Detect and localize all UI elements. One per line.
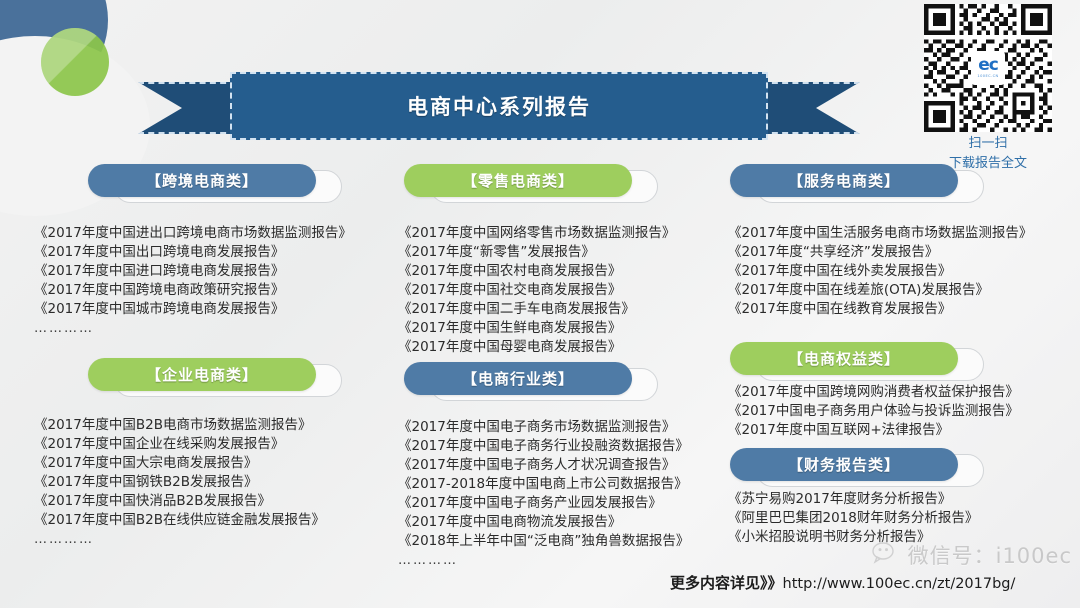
list-item[interactable]: 《2017年度中国跨境网购消费者权益保护报告》 [728, 383, 1058, 402]
qr-caption-scan: 扫一扫 [912, 135, 1064, 152]
section-header-rights[interactable]: 【电商权益类】 [730, 342, 958, 375]
pill-body[interactable]: 【零售电商类】 [404, 164, 632, 197]
qr-code-icon[interactable]: ec 100EC.CN [924, 4, 1052, 132]
list-item[interactable]: 《2017年度中国城市跨境电商发展报告》 [34, 300, 394, 319]
list-item[interactable]: 《2017年度中国大宗电商发展报告》 [34, 454, 394, 473]
section-header-cross-border[interactable]: 【跨境电商类】 [88, 164, 316, 197]
section-header-industry[interactable]: 【电商行业类】 [404, 362, 632, 395]
pill-body[interactable]: 【电商权益类】 [730, 342, 958, 375]
report-list-service: 《2017年度中国生活服务电商市场数据监测报告》 《2017年度“共享经济”发展… [728, 224, 1046, 319]
section-header-service[interactable]: 【服务电商类】 [730, 164, 958, 197]
section-label: 【财务报告类】 [788, 454, 900, 475]
list-item[interactable]: 《2017年度中国电子商务人才状况调查报告》 [398, 456, 748, 475]
list-item[interactable]: 《2017年度中国进口跨境电商发展报告》 [34, 262, 394, 281]
report-list-enterprise: 《2017年度中国B2B电商市场数据监测报告》 《2017年度中国企业在线采购发… [34, 416, 394, 549]
list-item[interactable]: 《2017年度中国钢铁B2B发展报告》 [34, 473, 394, 492]
pill-body[interactable]: 【企业电商类】 [88, 358, 316, 391]
section-header-enterprise[interactable]: 【企业电商类】 [88, 358, 316, 391]
section-label: 【电商行业类】 [462, 368, 574, 389]
list-item[interactable]: 《2017年度中国二手车电商发展报告》 [398, 300, 728, 319]
section-label: 【服务电商类】 [788, 170, 900, 191]
section-header-retail[interactable]: 【零售电商类】 [404, 164, 632, 197]
wechat-watermark: 微信号：i100ec [872, 540, 1072, 570]
list-ellipsis: ………… [398, 551, 748, 570]
list-item[interactable]: 《阿里巴巴集团2018财年财务分析报告》 [728, 509, 1058, 528]
report-list-rights: 《2017年度中国跨境网购消费者权益保护报告》 《2017中国电子商务用户体验与… [728, 383, 1058, 440]
section-label: 【零售电商类】 [462, 170, 574, 191]
list-item[interactable]: 《2017年度中国在线外卖发展报告》 [728, 262, 1046, 281]
list-ellipsis: ………… [34, 530, 394, 549]
wechat-bubble-icon [872, 541, 902, 569]
pill-body[interactable]: 【跨境电商类】 [88, 164, 316, 197]
list-item[interactable]: 《2017年度中国企业在线采购发展报告》 [34, 435, 394, 454]
list-item[interactable]: 《2017年度中国电子商务行业投融资数据报告》 [398, 437, 748, 456]
list-item[interactable]: 《2017年度中国进出口跨境电商市场数据监测报告》 [34, 224, 394, 243]
title-ribbon: 电商中心系列报告 [138, 72, 860, 142]
list-item[interactable]: 《2018年上半年中国“泛电商”独角兽数据报告》 [398, 532, 748, 551]
list-item[interactable]: 《2017年度中国B2B电商市场数据监测报告》 [34, 416, 394, 435]
section-label: 【跨境电商类】 [146, 170, 258, 191]
list-item[interactable]: 《2017年度中国农村电商发展报告》 [398, 262, 728, 281]
list-item[interactable]: 《苏宁易购2017年度财务分析报告》 [728, 490, 1058, 509]
list-item[interactable]: 《2017年度中国快消品B2B发展报告》 [34, 492, 394, 511]
list-item[interactable]: 《2017年度中国网络零售市场数据监测报告》 [398, 224, 728, 243]
pill-body[interactable]: 【财务报告类】 [730, 448, 958, 481]
list-item[interactable]: 《2017年度中国母婴电商发展报告》 [398, 338, 728, 357]
pill-body[interactable]: 【电商行业类】 [404, 362, 632, 395]
list-item[interactable]: 《2017年度“共享经济”发展报告》 [728, 243, 1046, 262]
section-label: 【企业电商类】 [146, 364, 258, 385]
list-item[interactable]: 《2017年度中国社交电商发展报告》 [398, 281, 728, 300]
list-item[interactable]: 《2017年度中国生活服务电商市场数据监测报告》 [728, 224, 1046, 243]
ec-logo-subtext: 100EC.CN [977, 75, 998, 79]
report-list-cross-border: 《2017年度中国进出口跨境电商市场数据监测报告》 《2017年度中国出口跨境电… [34, 224, 394, 338]
qr-block: ec 100EC.CN 扫一扫 下载报告全文 [912, 4, 1064, 172]
decorative-green-highlight [41, 28, 109, 96]
list-item[interactable]: 《2017年度中国电商物流发展报告》 [398, 513, 748, 532]
list-item[interactable]: 《2017年度中国电子商务市场数据监测报告》 [398, 418, 748, 437]
list-item[interactable]: 《2017年度中国生鲜电商发展报告》 [398, 319, 728, 338]
list-item[interactable]: 《2017年度中国跨境电商政策研究报告》 [34, 281, 394, 300]
list-item[interactable]: 《2017年度“新零售”发展报告》 [398, 243, 728, 262]
ribbon-body: 电商中心系列报告 [230, 72, 768, 140]
report-list-financial: 《苏宁易购2017年度财务分析报告》 《阿里巴巴集团2018财年财务分析报告》 … [728, 490, 1058, 547]
section-header-financial[interactable]: 【财务报告类】 [730, 448, 958, 481]
list-item[interactable]: 《2017中国电子商务用户体验与投诉监测报告》 [728, 402, 1058, 421]
report-list-industry: 《2017年度中国电子商务市场数据监测报告》 《2017年度中国电子商务行业投融… [398, 418, 748, 570]
report-list-retail: 《2017年度中国网络零售市场数据监测报告》 《2017年度“新零售”发展报告》… [398, 224, 728, 357]
page-title: 电商中心系列报告 [407, 91, 591, 121]
section-label: 【电商权益类】 [788, 348, 900, 369]
slide-root: { "banner": { "title": "电商中心系列报告" }, "qr… [0, 0, 1080, 608]
list-ellipsis: ………… [34, 319, 394, 338]
list-item[interactable]: 《2017-2018年度中国电商上市公司数据报告》 [398, 475, 748, 494]
list-item[interactable]: 《2017年度中国在线教育发展报告》 [728, 300, 1046, 319]
list-item[interactable]: 《2017年度中国B2B在线供应链金融发展报告》 [34, 511, 394, 530]
footer-prefix: 更多内容详见》》 [670, 574, 783, 592]
ec-logo: ec 100EC.CN [971, 51, 1005, 85]
list-item[interactable]: 《2017年度中国在线差旅(OTA)发展报告》 [728, 281, 1046, 300]
wechat-id-text: 微信号：i100ec [908, 540, 1072, 570]
ec-logo-text: ec [978, 57, 998, 74]
footer-url[interactable]: http://www.100ec.cn/zt/2017bg/ [783, 576, 1016, 592]
list-item[interactable]: 《2017年度中国电子商务产业园发展报告》 [398, 494, 748, 513]
footer-more-link[interactable]: 更多内容详见》》http://www.100ec.cn/zt/2017bg/ [670, 572, 1015, 593]
list-item[interactable]: 《2017年度中国出口跨境电商发展报告》 [34, 243, 394, 262]
list-item[interactable]: 《2017年度中国互联网+法律报告》 [728, 421, 1058, 440]
pill-body[interactable]: 【服务电商类】 [730, 164, 958, 197]
